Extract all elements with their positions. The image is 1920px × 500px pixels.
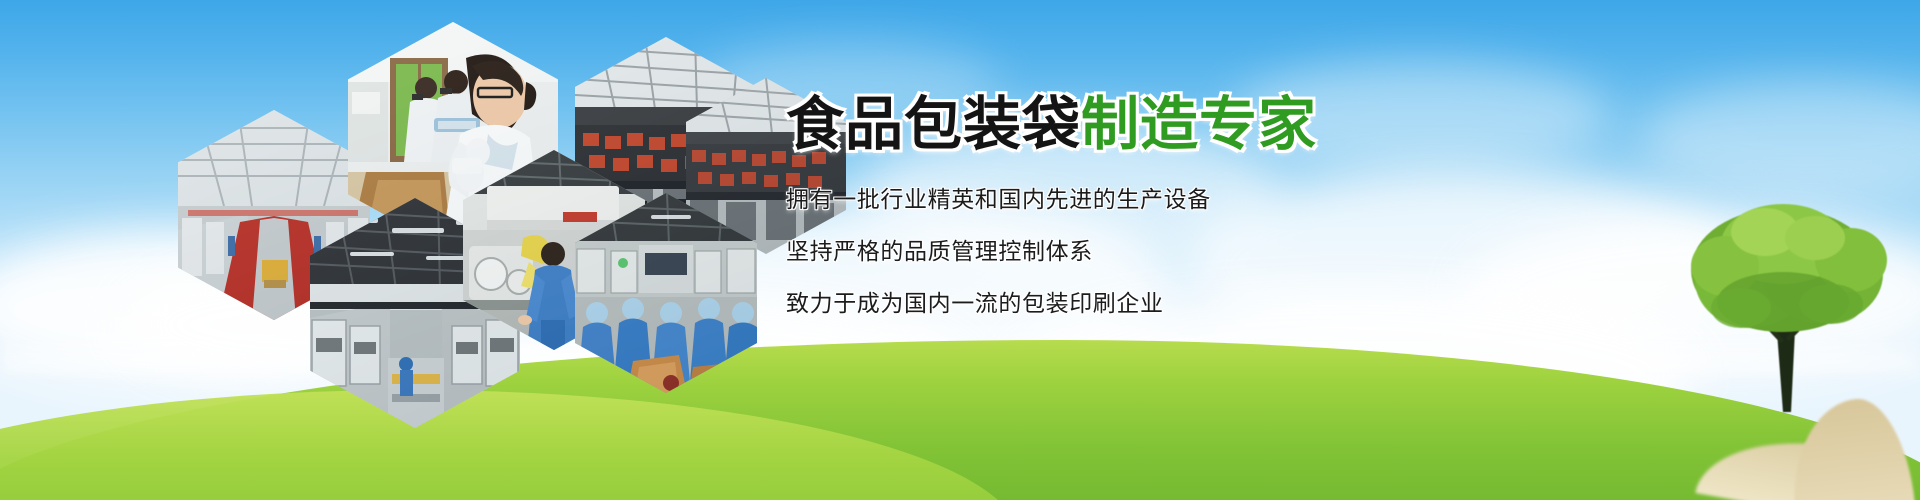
hexagon-photo-collage [0,0,800,430]
subtitle-list: 拥有一批行业精英和国内先进的生产设备 坚持严格的品质管理控制体系 致力于成为国内… [786,188,1786,315]
subtitle-line-1: 拥有一批行业精英和国内先进的生产设备 [786,188,1786,211]
subtitle-line-3: 致力于成为国内一流的包装印刷企业 [786,292,1786,315]
page-title: 食品包装袋制造专家 [786,96,1786,154]
banner-copy: 食品包装袋制造专家 拥有一批行业精英和国内先进的生产设备 坚持严格的品质管理控制… [786,96,1786,344]
headline-green-text: 制造专家 [1081,92,1317,157]
hero-banner: 食品包装袋制造专家 拥有一批行业精英和国内先进的生产设备 坚持严格的品质管理控制… [0,0,1920,500]
subtitle-line-2: 坚持严格的品质管理控制体系 [786,240,1786,263]
headline-dark-text: 食品包装袋 [786,92,1081,157]
